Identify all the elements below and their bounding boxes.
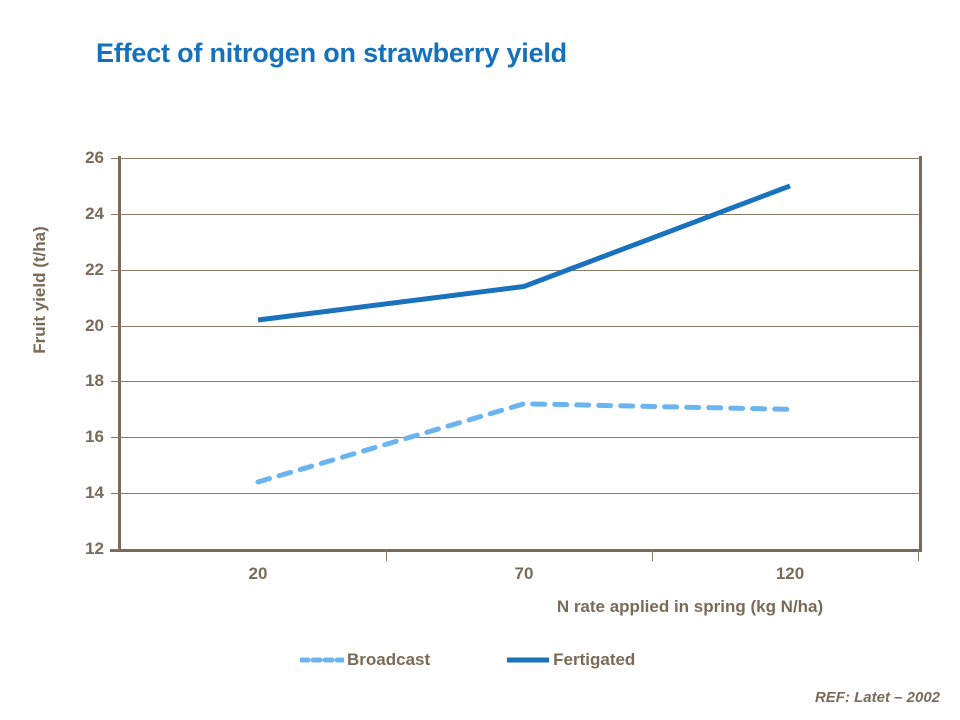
y-axis-label: 12 (58, 540, 104, 557)
y-axis-label: 14 (58, 484, 104, 501)
legend-label-broadcast: Broadcast (347, 650, 430, 670)
x-axis-label: 20 (213, 564, 303, 584)
x-axis-title: N rate applied in spring (kg N/ha) (440, 597, 940, 617)
legend-item-broadcast[interactable]: Broadcast (300, 650, 430, 670)
legend-label-fertigated: Fertigated (553, 650, 635, 670)
y-axis-label: 22 (58, 261, 104, 278)
x-axis-tick (386, 550, 387, 561)
y-axis-tick (111, 270, 120, 271)
series-line-broadcast (258, 404, 790, 482)
slide-canvas: Effect of nitrogen on strawberry yield F… (0, 0, 960, 720)
x-axis-label: 70 (479, 564, 569, 584)
solid-line-swatch (506, 652, 550, 668)
x-axis-tick (918, 550, 919, 561)
y-axis-label: 24 (58, 205, 104, 222)
x-axis-label: 120 (745, 564, 835, 584)
y-axis-tick (111, 214, 120, 215)
y-axis-tick (111, 158, 120, 159)
y-axis-label: 20 (58, 317, 104, 334)
y-axis-tick (111, 437, 120, 438)
y-axis-tick (111, 549, 120, 550)
series-lines (120, 158, 920, 549)
x-axis-line (110, 549, 922, 552)
x-axis-tick (652, 550, 653, 561)
legend-item-fertigated[interactable]: Fertigated (506, 650, 635, 670)
y-axis-label: 16 (58, 428, 104, 445)
y-axis-tick (111, 326, 120, 327)
chart-legend: Broadcast Fertigated (300, 650, 635, 670)
reference-note: REF: Latet – 2002 (600, 689, 940, 706)
y-axis-label: 18 (58, 372, 104, 389)
plot-area: 1214161820222426 2070120 (120, 158, 920, 549)
y-axis-title: Fruit yield (t/ha) (30, 180, 50, 400)
y-axis-tick (111, 493, 120, 494)
dashed-line-swatch (300, 652, 344, 668)
page-title: Effect of nitrogen on strawberry yield (96, 38, 567, 69)
y-axis-tick (111, 381, 120, 382)
y-axis-label: 26 (58, 149, 104, 166)
series-line-fertigated (258, 186, 790, 320)
